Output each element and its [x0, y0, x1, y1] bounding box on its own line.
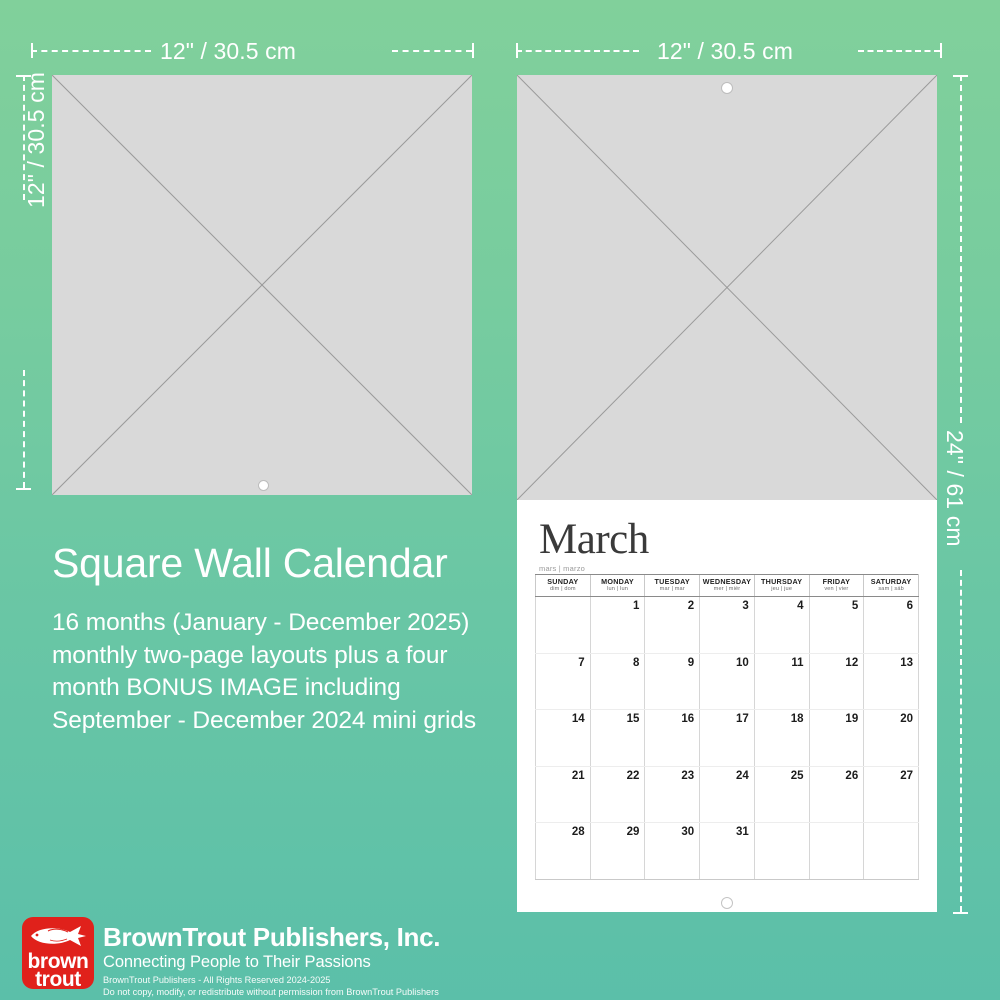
calendar-day-cell[interactable]: 31 [700, 823, 755, 880]
dimension-right-side-label: 24" / 61 cm [941, 430, 968, 547]
calendar-day-cell[interactable]: 26 [809, 766, 864, 823]
day-header-thursday: THURSDAY jeu | jue [754, 575, 809, 597]
legal-line: Do not copy, modify, or redistribute wit… [103, 986, 439, 998]
calendar-week-row: 28 29 30 31 [536, 823, 919, 880]
hanging-hole-left-panel [258, 480, 269, 491]
calendar-grid: SUNDAY dim | dom MONDAY lun | lun TUESDA… [535, 574, 919, 880]
day-header-tuesday: TUESDAY mar | mar [645, 575, 700, 597]
description-line: month BONUS IMAGE including [52, 672, 512, 705]
calendar-day-cell[interactable]: 29 [590, 823, 645, 880]
trout-fish-icon [28, 923, 88, 949]
dash-line [31, 50, 151, 52]
marketing-description: 16 months (January - December 2025) mont… [52, 607, 512, 737]
calendar-day-cell[interactable]: 25 [754, 766, 809, 823]
calendar-day-cell[interactable]: 14 [536, 710, 591, 767]
day-header-name: SATURDAY [864, 578, 918, 586]
calendar-week-row: 14 15 16 17 18 19 20 [536, 710, 919, 767]
calendar-month-block: March mars | marzo [539, 518, 649, 573]
calendar-week-row: 1 2 3 4 5 6 [536, 597, 919, 654]
legal-line: BrownTrout Publishers - All Rights Reser… [103, 974, 439, 986]
day-header-sub: mar | mar [645, 586, 699, 593]
dash-line [960, 570, 962, 912]
day-header-sub: mer | miér [700, 586, 754, 593]
description-line: September - December 2024 mini grids [52, 705, 512, 738]
calendar-day-cell[interactable]: 20 [864, 710, 919, 767]
calendar-day-cell[interactable]: 16 [645, 710, 700, 767]
day-header-sub: jeu | jue [755, 586, 809, 593]
calendar-day-cell[interactable]: 12 [809, 653, 864, 710]
calendar-day-cell[interactable]: 7 [536, 653, 591, 710]
calendar-day-cell[interactable]: 17 [700, 710, 755, 767]
day-header-name: FRIDAY [810, 578, 864, 586]
browntrout-logo[interactable]: brown trout [22, 917, 94, 989]
calendar-day-cell[interactable]: 28 [536, 823, 591, 880]
calendar-day-cell[interactable] [754, 823, 809, 880]
calendar-day-cell[interactable]: 1 [590, 597, 645, 654]
dash-line [858, 50, 940, 52]
tick-cap [472, 43, 474, 58]
company-name: BrownTrout Publishers, Inc. [103, 922, 440, 953]
calendar-month-subtitle: mars | marzo [539, 564, 649, 573]
calendar-day-cell[interactable]: 18 [754, 710, 809, 767]
day-header-name: TUESDAY [645, 578, 699, 586]
dash-line [516, 50, 639, 52]
calendar-week-row: 7 8 9 10 11 12 13 [536, 653, 919, 710]
dimension-top-right-label: 12" / 30.5 cm [657, 38, 793, 65]
logo-word-trout: trout [22, 968, 94, 989]
dimension-top-left-label: 12" / 30.5 cm [160, 38, 296, 65]
placeholder-cross-icon [517, 75, 937, 500]
description-line: 16 months (January - December 2025) [52, 607, 512, 640]
page-title: Square Wall Calendar [52, 540, 448, 587]
day-header-friday: FRIDAY ven | vier [809, 575, 864, 597]
calendar-header-row: SUNDAY dim | dom MONDAY lun | lun TUESDA… [536, 575, 919, 597]
dash-line [960, 75, 962, 423]
calendar-day-cell[interactable] [536, 597, 591, 654]
day-header-name: MONDAY [591, 578, 645, 586]
calendar-day-cell[interactable]: 3 [700, 597, 755, 654]
day-header-name: THURSDAY [755, 578, 809, 586]
calendar-day-cell[interactable]: 21 [536, 766, 591, 823]
day-header-wednesday: WEDNESDAY mer | miér [700, 575, 755, 597]
tick-cap [940, 43, 942, 58]
legal-notice: BrownTrout Publishers - All Rights Reser… [103, 974, 439, 999]
day-header-sub: lun | lun [591, 586, 645, 593]
calendar-day-cell[interactable]: 27 [864, 766, 919, 823]
calendar-day-cell[interactable]: 6 [864, 597, 919, 654]
description-line: monthly two-page layouts plus a four [52, 640, 512, 673]
calendar-month-name: March [539, 518, 649, 561]
hanging-hole-right-panel-bottom [721, 897, 733, 909]
calendar-grid-wrapper: SUNDAY dim | dom MONDAY lun | lun TUESDA… [535, 574, 919, 880]
placeholder-cross-icon [52, 75, 472, 495]
day-header-sunday: SUNDAY dim | dom [536, 575, 591, 597]
left-image-panel [52, 75, 472, 495]
day-header-monday: MONDAY lun | lun [590, 575, 645, 597]
calendar-day-cell[interactable]: 30 [645, 823, 700, 880]
dimension-left-side-label: 12" / 30.5 cm [23, 72, 50, 208]
day-header-sub: sam | sáb [864, 586, 918, 593]
right-image-panel [517, 75, 937, 500]
calendar-day-cell[interactable]: 11 [754, 653, 809, 710]
calendar-day-cell[interactable] [864, 823, 919, 880]
calendar-day-cell[interactable]: 24 [700, 766, 755, 823]
day-header-sub: ven | vier [810, 586, 864, 593]
day-header-name: WEDNESDAY [700, 578, 754, 586]
dash-line [392, 50, 472, 52]
tick-cap [16, 488, 31, 490]
calendar-day-cell[interactable]: 8 [590, 653, 645, 710]
day-header-saturday: SATURDAY sam | sáb [864, 575, 919, 597]
hanging-hole-right-panel-top [721, 82, 733, 94]
calendar-week-row: 21 22 23 24 25 26 27 [536, 766, 919, 823]
calendar-day-cell[interactable] [809, 823, 864, 880]
calendar-day-cell[interactable]: 13 [864, 653, 919, 710]
footer: brown trout BrownTrout Publishers, Inc. … [0, 912, 1000, 1000]
calendar-day-cell[interactable]: 4 [754, 597, 809, 654]
calendar-page: March mars | marzo SUNDAY dim | dom MOND… [517, 500, 937, 912]
dash-line [23, 370, 25, 488]
calendar-day-cell[interactable]: 23 [645, 766, 700, 823]
company-tagline: Connecting People to Their Passions [103, 953, 371, 972]
calendar-day-cell[interactable]: 15 [590, 710, 645, 767]
calendar-day-cell[interactable]: 2 [645, 597, 700, 654]
day-header-name: SUNDAY [536, 578, 590, 586]
calendar-day-cell[interactable]: 5 [809, 597, 864, 654]
calendar-day-cell[interactable]: 10 [700, 653, 755, 710]
calendar-day-cell[interactable]: 22 [590, 766, 645, 823]
calendar-day-cell[interactable]: 9 [645, 653, 700, 710]
day-header-sub: dim | dom [536, 586, 590, 593]
calendar-day-cell[interactable]: 19 [809, 710, 864, 767]
